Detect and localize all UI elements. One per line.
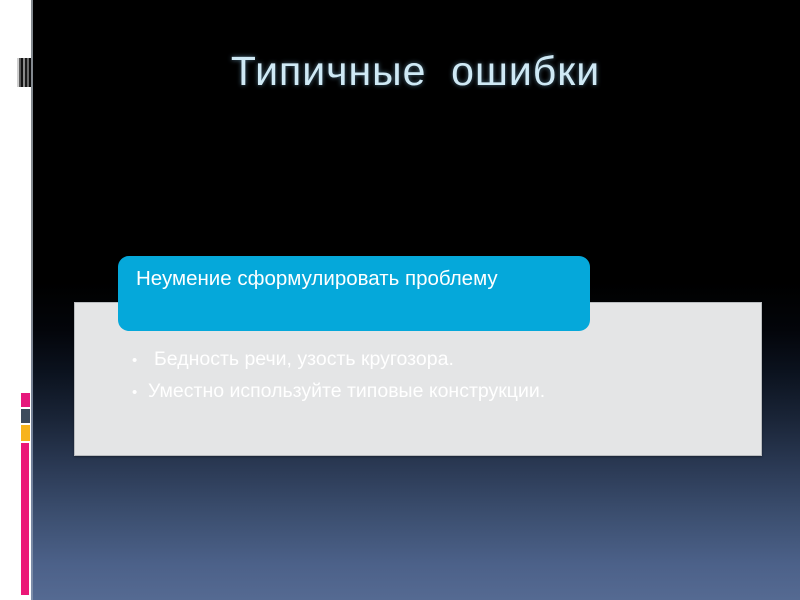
bullet-marker-icon: • bbox=[132, 346, 154, 376]
bullet-marker-icon: • bbox=[132, 378, 148, 408]
color-chip-amber bbox=[21, 425, 30, 441]
slide-title: Типичные ошибки bbox=[31, 48, 800, 95]
list-item: • Уместно используйте типовые конструкци… bbox=[132, 376, 742, 408]
accent-bar-magenta bbox=[21, 443, 29, 595]
striped-bars-decoration-icon bbox=[17, 58, 31, 87]
list-item-text: Уместно используйте типовые конструкции. bbox=[148, 376, 742, 406]
list-item-text: Бедность речи, узость кругозора. bbox=[154, 344, 742, 374]
list-item: • Бедность речи, узость кругозора. bbox=[132, 344, 742, 376]
section-heading-banner: Неумение сформулировать проблему bbox=[118, 256, 590, 331]
presentation-slide: Типичные ошибки Неумение сформулировать … bbox=[0, 0, 800, 600]
color-chip-magenta bbox=[21, 393, 30, 407]
color-chip-slate bbox=[21, 409, 30, 423]
bullet-list: • Бедность речи, узость кругозора. • Уме… bbox=[132, 344, 742, 408]
